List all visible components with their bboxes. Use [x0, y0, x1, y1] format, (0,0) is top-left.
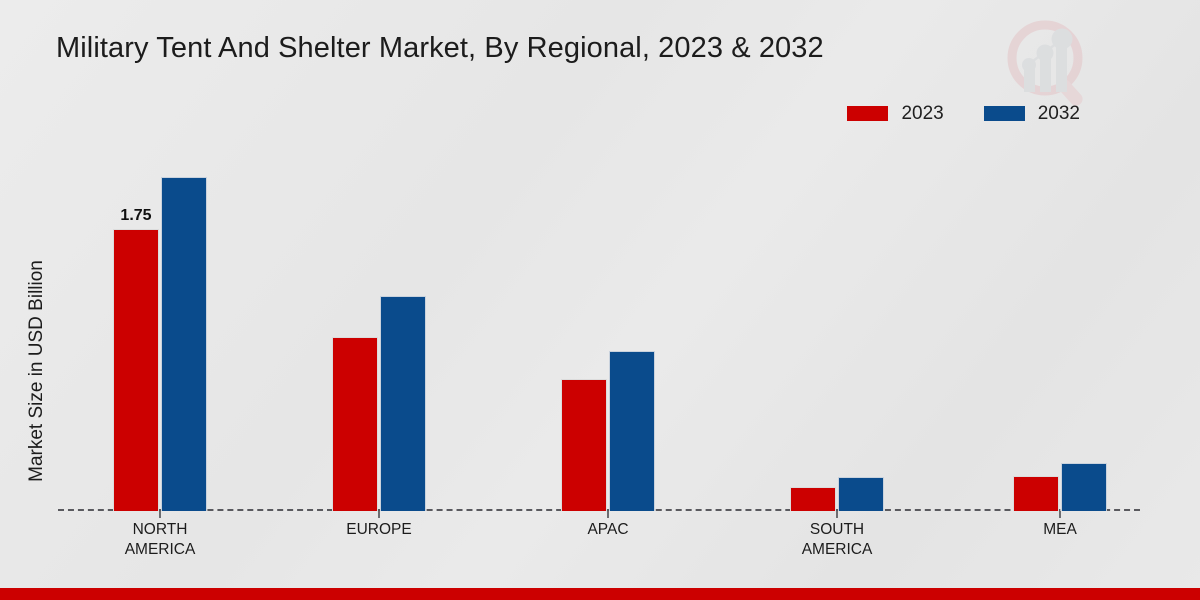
magnifier-bar-chart-logo-watermark: [995, 12, 1105, 112]
bar-group-apac: APAC: [558, 140, 658, 511]
footer-accent-bar: [0, 588, 1200, 600]
bar-2023-apac[interactable]: [561, 379, 607, 511]
x-axis-tick: [607, 511, 609, 518]
x-axis-label-mea: MEA: [1043, 520, 1077, 540]
bar-2032-south-america[interactable]: [838, 477, 884, 511]
x-axis-tick: [836, 511, 838, 518]
bar-group-mea: MEA: [1010, 140, 1110, 511]
legend-swatch-red: [847, 106, 888, 121]
plot-area: 1.75 NORTH AMERICA EUROPE APAC SOUTH AME…: [58, 140, 1140, 511]
bar-2032-north-america[interactable]: [161, 177, 207, 511]
x-axis-label-apac: APAC: [587, 520, 628, 540]
bar-2023-mea[interactable]: [1013, 476, 1059, 511]
legend-label-2032: 2032: [1038, 104, 1080, 123]
x-axis-label-south-america: SOUTH AMERICA: [802, 520, 873, 560]
page-title: Military Tent And Shelter Market, By Reg…: [56, 32, 824, 65]
bar-2023-north-america[interactable]: 1.75: [113, 229, 159, 511]
legend-label-2023: 2023: [901, 104, 943, 123]
x-axis-tick: [378, 511, 380, 518]
bar-2032-mea[interactable]: [1061, 463, 1107, 511]
x-axis-tick: [1059, 511, 1061, 518]
bar-2023-south-america[interactable]: [790, 487, 836, 511]
bar-2032-apac[interactable]: [609, 351, 655, 511]
chart-page: Military Tent And Shelter Market, By Reg…: [0, 0, 1200, 600]
bar-2023-europe[interactable]: [332, 337, 378, 511]
legend-item-2032[interactable]: 2032: [984, 104, 1080, 123]
bar-2032-europe[interactable]: [380, 296, 426, 511]
bar-group-south-america: SOUTH AMERICA: [787, 140, 887, 511]
bar-value-label: 1.75: [120, 207, 151, 225]
chart-legend: 2023 2032: [847, 104, 1080, 123]
x-axis-label-europe: EUROPE: [346, 520, 411, 540]
x-axis-label-north-america: NORTH AMERICA: [125, 520, 196, 560]
legend-item-2023[interactable]: 2023: [847, 104, 943, 123]
bar-group-europe: EUROPE: [329, 140, 429, 511]
bar-group-north-america: 1.75 NORTH AMERICA: [110, 140, 210, 511]
legend-swatch-blue: [984, 106, 1025, 121]
x-axis-tick: [159, 511, 161, 518]
y-axis-title: Market Size in USD Billion: [26, 171, 48, 571]
